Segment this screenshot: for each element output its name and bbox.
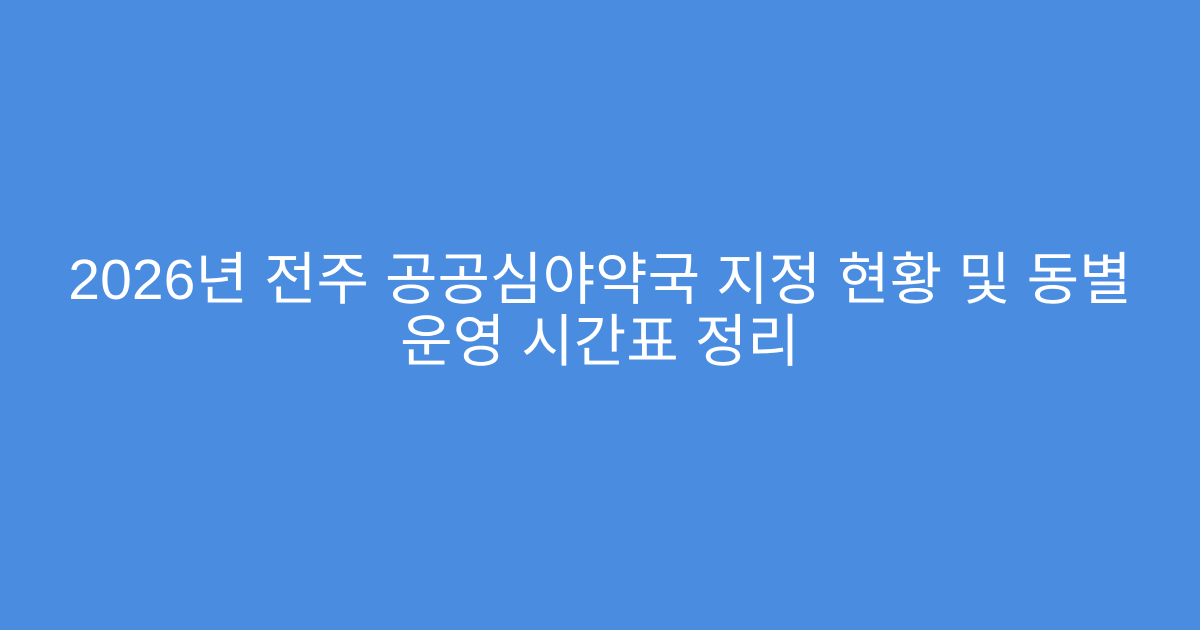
title-block: 2026년 전주 공공심야약국 지정 현황 및 동별 운영 시간표 정리 xyxy=(64,249,1136,373)
share-card-canvas: 2026년 전주 공공심야약국 지정 현황 및 동별 운영 시간표 정리 xyxy=(0,0,1200,630)
page-title: 2026년 전주 공공심야약국 지정 현황 및 동별 운영 시간표 정리 xyxy=(64,249,1136,373)
